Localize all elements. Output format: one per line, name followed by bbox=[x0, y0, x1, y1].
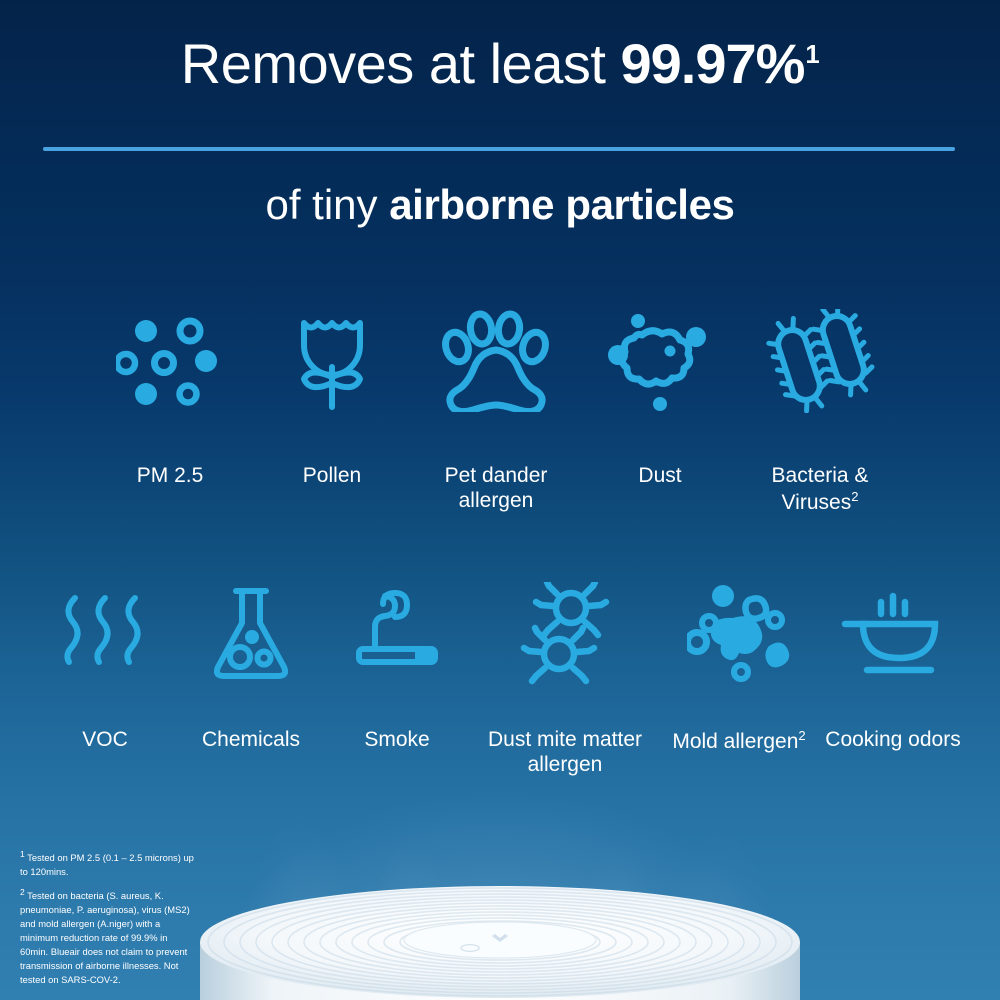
bacteria-icon bbox=[765, 306, 875, 416]
divider-rule bbox=[43, 147, 955, 151]
flask-icon bbox=[208, 580, 294, 688]
feature-item-chemicals: Chemicals bbox=[178, 580, 324, 753]
air-purifier-product-image bbox=[140, 876, 860, 1000]
particle-row-2: VOC Chemicals bbox=[0, 580, 1000, 778]
footnote-2: 2 Tested on bacteria (S. aureus, K. pneu… bbox=[20, 886, 196, 986]
feature-label: Smoke bbox=[364, 728, 429, 753]
feature-item-bacteria-viruses: Bacteria & Viruses2 bbox=[735, 306, 905, 516]
mold-spores-icon bbox=[687, 580, 791, 688]
vapor-waves-icon bbox=[59, 580, 151, 688]
feature-item-pollen: Pollen bbox=[257, 306, 407, 489]
footnote-text: Tested on bacteria (S. aureus, K. pneumo… bbox=[20, 890, 190, 984]
headline-value: 99.97% bbox=[620, 32, 804, 95]
subheadline-lead: of tiny bbox=[265, 181, 389, 228]
cigarette-smoke-icon bbox=[349, 580, 445, 688]
infographic-canvas: Removes at least 99.97%1 of tiny airborn… bbox=[0, 0, 1000, 1000]
feature-label: Dust mite matter allergen bbox=[470, 728, 660, 778]
headline-lead: Removes at least bbox=[181, 32, 621, 95]
particles-icon bbox=[116, 306, 224, 416]
feature-label: Pet dander allergen bbox=[407, 464, 585, 514]
feature-label: VOC bbox=[82, 728, 128, 753]
feature-item-dust: Dust bbox=[585, 306, 735, 489]
feature-label-text: Mold allergen bbox=[672, 730, 798, 753]
feature-item-pm25: PM 2.5 bbox=[95, 306, 245, 489]
feature-label: Dust bbox=[638, 464, 681, 489]
feature-item-cooking-odors: Cooking odors bbox=[818, 580, 968, 753]
feature-label: PM 2.5 bbox=[137, 464, 204, 489]
cooking-pan-icon bbox=[841, 580, 945, 688]
feature-item-voc: VOC bbox=[32, 580, 178, 753]
footnote-text: Tested on PM 2.5 (0.1 – 2.5 microns) up … bbox=[20, 852, 194, 877]
headline: Removes at least 99.97%1 bbox=[0, 34, 1000, 93]
feature-item-dust-mite: Dust mite matter allergen bbox=[470, 580, 660, 778]
headline-footnote-marker: 1 bbox=[805, 41, 819, 69]
feature-item-smoke: Smoke bbox=[324, 580, 470, 753]
feature-label: Pollen bbox=[303, 464, 361, 489]
feature-label: Chemicals bbox=[202, 728, 300, 753]
particle-row-1: PM 2.5 Pollen bbox=[0, 306, 1000, 516]
footnote-1: 1 Tested on PM 2.5 (0.1 – 2.5 microns) u… bbox=[20, 848, 196, 879]
feature-footnote-marker: 2 bbox=[798, 728, 805, 743]
dust-blob-icon bbox=[608, 306, 712, 416]
feature-item-mold: Mold allergen2 bbox=[660, 580, 818, 755]
flower-icon bbox=[290, 306, 374, 416]
subheadline: of tiny airborne particles bbox=[0, 182, 1000, 228]
dust-mite-icon bbox=[519, 580, 611, 688]
paw-print-icon bbox=[441, 306, 551, 416]
subheadline-strong: airborne particles bbox=[389, 181, 734, 228]
feature-label: Mold allergen2 bbox=[672, 728, 805, 755]
feature-label: Bacteria & Viruses2 bbox=[735, 464, 905, 516]
feature-label: Cooking odors bbox=[825, 728, 960, 753]
feature-item-pet-dander: Pet dander allergen bbox=[407, 306, 585, 514]
feature-footnote-marker: 2 bbox=[851, 489, 858, 504]
